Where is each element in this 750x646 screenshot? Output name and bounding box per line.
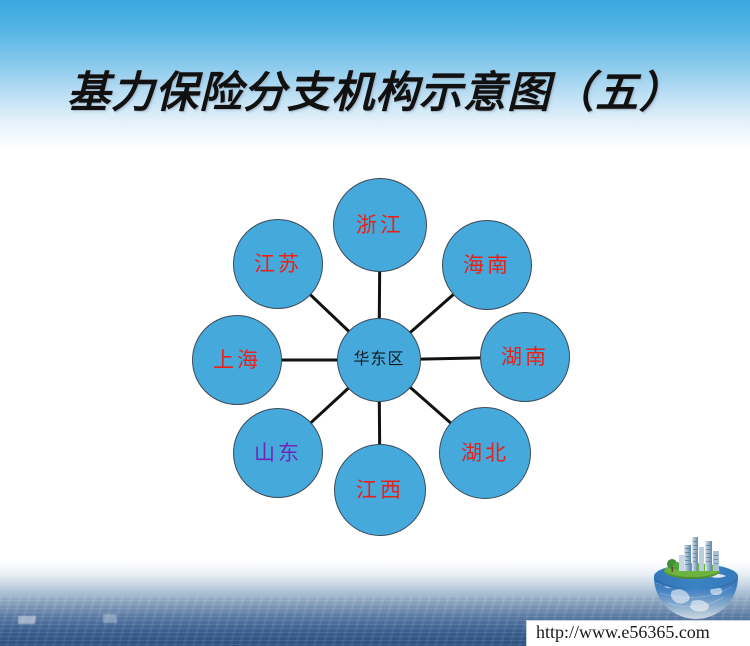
page-title: 基力保险分支机构示意图（五）: [0, 58, 750, 120]
edge-hub-to-湖北: [410, 387, 451, 423]
edge-hub-to-海南: [410, 294, 454, 333]
node-hubei[interactable]: 湖北: [439, 407, 531, 499]
node-hainan[interactable]: 海南: [442, 220, 532, 310]
node-jiangxi-label: 江西: [356, 480, 404, 501]
node-shanghai[interactable]: 上海: [192, 315, 282, 405]
node-shanghai-label: 上海: [213, 350, 261, 371]
node-hunan[interactable]: 湖南: [480, 312, 570, 402]
node-hunan-label: 湖南: [501, 347, 549, 368]
slide-canvas: 基力保险分支机构示意图（五） 浙江江苏海南上海湖南山东湖北江西华东区: [0, 0, 750, 646]
node-hubei-label: 湖北: [461, 443, 509, 464]
org-chart-diagram: 浙江江苏海南上海湖南山东湖北江西华东区: [175, 160, 575, 540]
edge-hub-to-江苏: [310, 294, 349, 331]
node-zhejiang[interactable]: 浙江: [333, 178, 427, 272]
hub-node-huadongqu-label: 华东区: [353, 352, 404, 368]
node-hainan-label: 海南: [463, 255, 511, 276]
node-shandong[interactable]: 山东: [233, 408, 323, 498]
edge-hub-to-山东: [310, 388, 348, 423]
edge-hub-to-湖南: [420, 358, 481, 359]
node-shandong-label: 山东: [254, 443, 302, 464]
watermark-url: http://www.e56365.com: [536, 622, 710, 643]
node-jiangxi[interactable]: 江西: [334, 444, 426, 536]
node-jiangsu-label: 江苏: [254, 254, 302, 275]
hub-node-huadongqu[interactable]: 华东区: [337, 318, 421, 402]
node-jiangsu[interactable]: 江苏: [233, 219, 323, 309]
node-zhejiang-label: 浙江: [356, 215, 404, 236]
sea-glints: [8, 612, 238, 634]
globe-city-logo: [648, 531, 744, 623]
